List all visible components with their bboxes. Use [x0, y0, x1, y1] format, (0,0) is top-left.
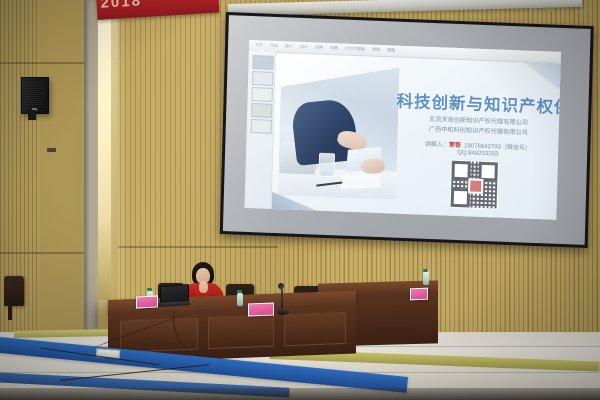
projection-screen-frame: 文件 开始 插入 设计 切换 动画 幻灯片放映 审阅 视图 — [220, 12, 594, 248]
menu-item-review[interactable]: 审阅 — [372, 47, 380, 53]
slide-thumbnail[interactable] — [251, 119, 272, 134]
slide-thumbnail[interactable] — [252, 87, 273, 102]
control-signin[interactable]: 登录 — [529, 7, 537, 13]
wall-seam-back — [118, 246, 278, 248]
light-strip-edge — [111, 0, 118, 300]
microphone-base[interactable] — [277, 309, 289, 315]
menu-item-design[interactable]: 设计 — [300, 44, 308, 50]
slide-canvas: 科技创新与知识产权保护 北京天奇创新知识产权代理有限公司 广西中和科创知识产权代… — [272, 53, 561, 220]
qr-center-logo — [468, 178, 483, 194]
name-placard — [410, 288, 428, 301]
control-present[interactable]: 演示 — [577, 8, 585, 14]
projected-slide-area: 文件 开始 插入 设计 切换 动画 幻灯片放映 审阅 视图 — [245, 40, 561, 220]
slide-thumbnail[interactable] — [252, 71, 273, 86]
menu-item-transitions[interactable]: 切换 — [315, 44, 323, 50]
presenter-label: 讲解人： — [425, 142, 449, 149]
slide-corner-decor-top — [500, 62, 561, 90]
projection-screen-surface: 文件 开始 插入 设计 切换 动画 幻灯片放映 审阅 视图 — [223, 15, 591, 245]
menu-item-slideshow[interactable]: 幻灯片放映 — [345, 46, 365, 53]
slide-organizations: 北京天奇创新知识产权代理有限公司 广西中和科创知识产权代理有限公司 — [402, 114, 555, 139]
side-chair[interactable] — [4, 276, 24, 306]
wall-speaker-icon — [21, 77, 49, 114]
powerpoint-menu-bar[interactable]: 文件 开始 插入 设计 切换 动画 幻灯片放映 审阅 视图 — [255, 42, 395, 53]
qr-code-pattern — [451, 161, 498, 209]
menu-item-home[interactable]: 开始 — [270, 43, 278, 49]
wall-pillar — [84, 0, 98, 345]
control-comments[interactable]: 批注 — [561, 8, 569, 14]
speaker-grille — [25, 82, 45, 106]
qr-code-icon — [450, 160, 499, 210]
menu-item-animations[interactable]: 动画 — [330, 45, 338, 51]
podium-panel — [284, 312, 346, 346]
banner-text: 2018 — [100, 0, 142, 12]
slide-photo-meeting — [278, 63, 400, 199]
door-handle[interactable] — [47, 148, 56, 152]
microphone-stem — [281, 286, 283, 311]
conference-hall-photo: 2018 文件 开始 插入 设计 切换 动画 幻灯片放映 审阅 — [0, 0, 600, 400]
menu-item-view[interactable]: 视图 — [387, 47, 395, 53]
name-placard — [248, 303, 274, 317]
control-share[interactable]: 共享 — [545, 7, 553, 13]
podium-panel — [208, 315, 274, 350]
presenter-name: 覃蓉 — [449, 143, 461, 149]
presenter-phone-note: （微信号） — [501, 145, 531, 152]
slide-thumbnail[interactable] — [251, 103, 272, 118]
side-chair-leg — [8, 304, 12, 320]
water-bottle — [237, 293, 243, 306]
water-bottle — [423, 272, 429, 285]
foreground-shadow — [0, 388, 600, 400]
name-placard — [136, 295, 158, 308]
menu-item-file[interactable]: 文件 — [255, 42, 263, 48]
slide-title: 科技创新与知识产权保护 — [396, 88, 558, 118]
photo-water-glass — [318, 153, 335, 178]
slide-thumbnail[interactable] — [252, 55, 273, 70]
vertical-light-strip — [98, 0, 111, 300]
speaker-mount-bracket — [28, 110, 36, 120]
photo-documents — [340, 173, 381, 189]
menu-item-insert[interactable]: 插入 — [285, 43, 293, 49]
presenter-hands — [199, 281, 208, 293]
